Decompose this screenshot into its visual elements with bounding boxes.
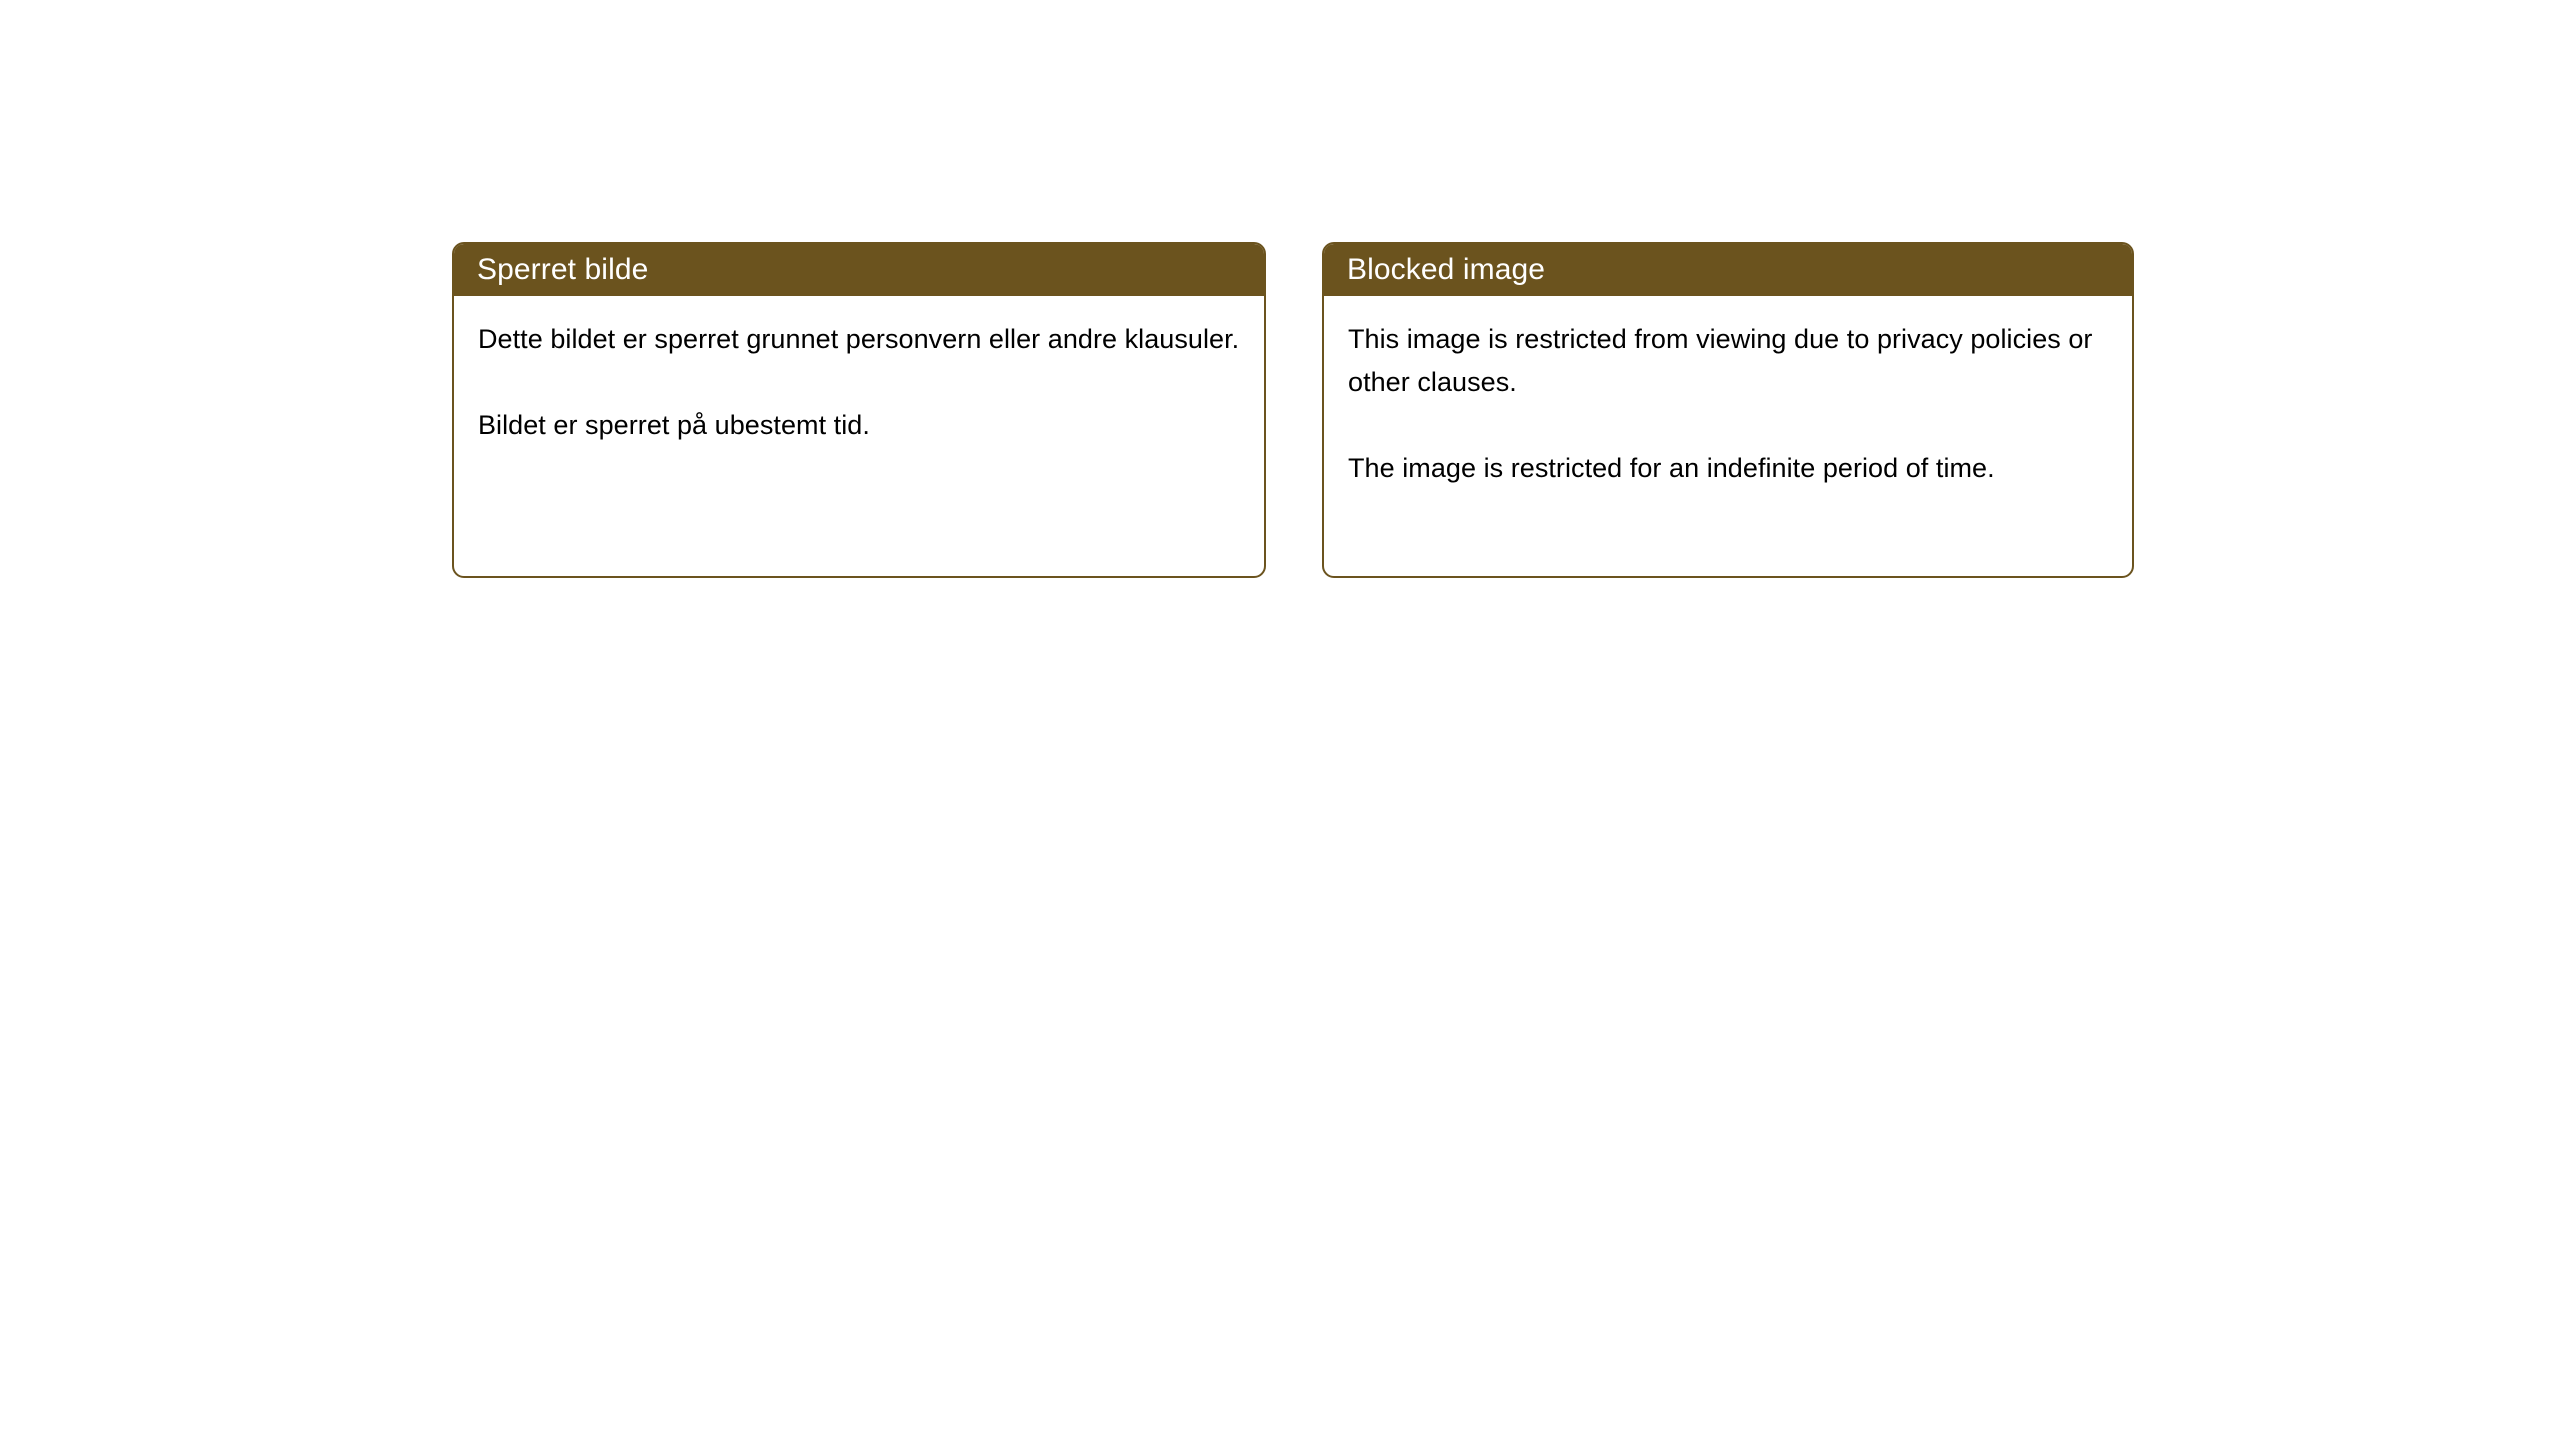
blocked-image-notice-card-norwegian: Sperret bilde Dette bildet er sperret gr… (452, 242, 1266, 578)
card-body-english: This image is restricted from viewing du… (1324, 296, 2132, 490)
card-header-norwegian: Sperret bilde (453, 243, 1265, 296)
card-paragraph-primary-norwegian: Dette bildet er sperret grunnet personve… (478, 318, 1240, 361)
blocked-image-notice-card-english: Blocked image This image is restricted f… (1322, 242, 2134, 578)
card-header-english: Blocked image (1323, 243, 2133, 296)
card-title-norwegian: Sperret bilde (477, 255, 648, 285)
card-title-english: Blocked image (1347, 255, 1545, 285)
card-paragraph-secondary-norwegian: Bildet er sperret på ubestemt tid. (478, 404, 1240, 447)
page-root: Sperret bilde Dette bildet er sperret gr… (0, 0, 2560, 1440)
card-paragraph-primary-english: This image is restricted from viewing du… (1348, 318, 2108, 404)
card-paragraph-secondary-english: The image is restricted for an indefinit… (1348, 447, 2108, 490)
card-body-norwegian: Dette bildet er sperret grunnet personve… (454, 296, 1264, 447)
